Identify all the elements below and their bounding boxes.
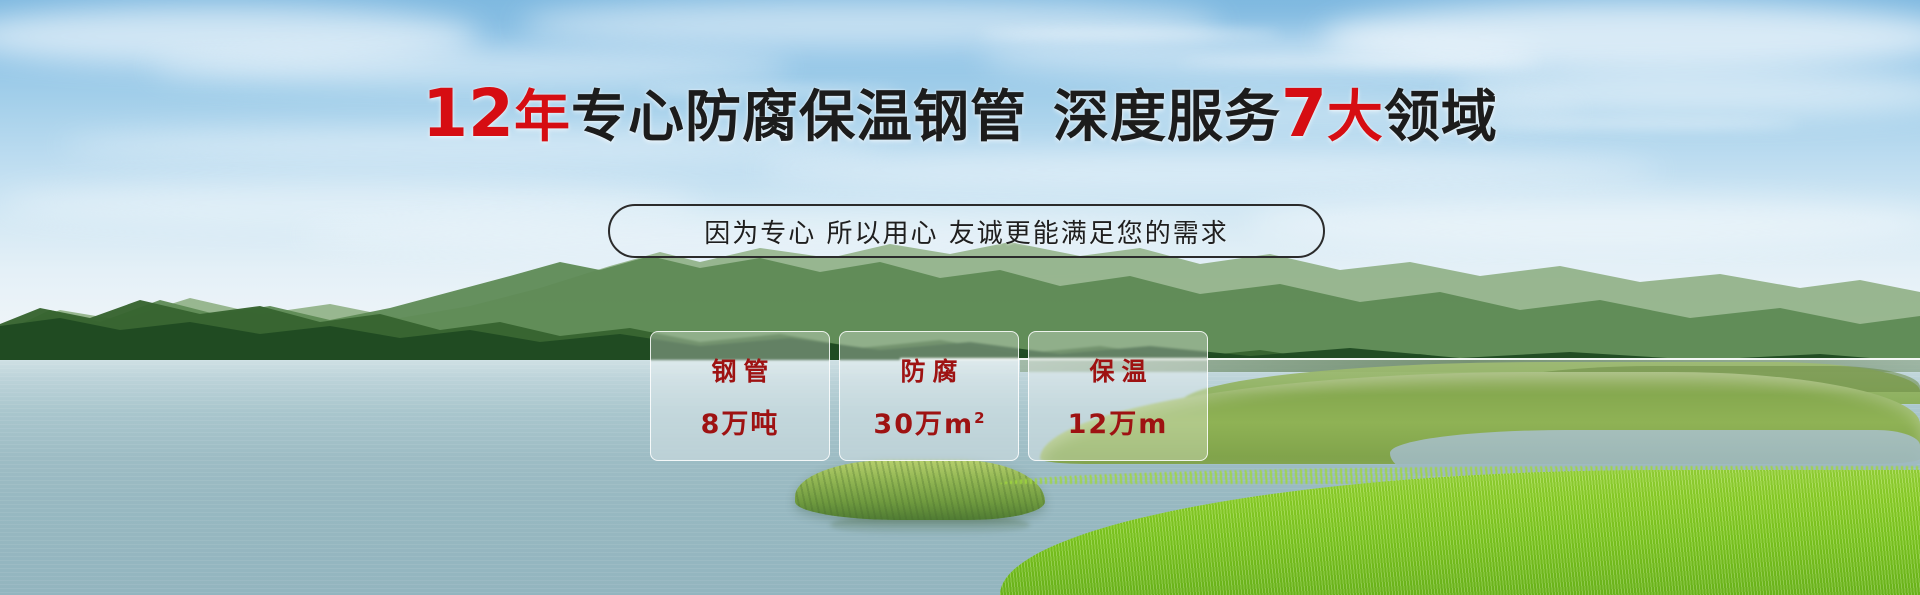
stat-card-value: 12万m: [1068, 402, 1169, 441]
stat-card-value-main: 8万吨: [701, 409, 780, 440]
headline-fields-text: 领域: [1384, 85, 1498, 150]
cloud-shape: [980, 34, 1540, 78]
stat-card-steel-pipe[interactable]: 钢管 8万吨: [650, 331, 830, 461]
stat-card-value-superscript: 2: [974, 409, 984, 427]
stat-card-value-main: 30万m: [873, 409, 974, 440]
stat-card-group: 钢管 8万吨 防腐 30万m2 保温 12万m: [650, 331, 1208, 461]
headline-fields-number: 7: [1281, 75, 1327, 152]
headline: 12年专心防腐保温钢管深度服务7大领域: [0, 83, 1920, 149]
cloud-shape: [1320, 2, 1920, 72]
cloud-streak: [1180, 58, 1540, 66]
headline-service-text: 深度服务: [1053, 85, 1281, 150]
headline-years-unit: 年: [514, 85, 571, 150]
stat-card-value: 30万m2: [873, 402, 984, 441]
subtitle-text: 因为专心 所以用心 友诚更能满足您的需求: [704, 213, 1229, 250]
stat-card-anticorrosion[interactable]: 防腐 30万m2: [839, 331, 1019, 461]
cloud-shape: [760, 150, 1660, 190]
stat-card-title: 保温: [1082, 352, 1153, 388]
grass-island: [795, 460, 1045, 520]
stat-card-title: 防腐: [893, 352, 964, 388]
headline-main-text: 专心防腐保温钢管: [571, 85, 1027, 150]
stat-card-value-main: 12万m: [1068, 409, 1169, 440]
stat-card-title: 钢管: [704, 352, 775, 388]
cloud-shape: [0, 180, 700, 226]
cloud-shape: [520, 0, 1220, 48]
subtitle-pill: 因为专心 所以用心 友诚更能满足您的需求: [608, 204, 1325, 258]
stat-card-value: 8万吨: [701, 402, 780, 441]
promo-banner: 12年专心防腐保温钢管深度服务7大领域 因为专心 所以用心 友诚更能满足您的需求…: [0, 0, 1920, 595]
island-grass-texture: [795, 460, 1045, 520]
headline-years-number: 12: [422, 75, 514, 152]
stat-card-insulation[interactable]: 保温 12万m: [1028, 331, 1208, 461]
cloud-shape: [0, 6, 480, 66]
headline-fields-unit: 大: [1327, 85, 1384, 150]
cloud-streak: [980, 30, 1280, 38]
